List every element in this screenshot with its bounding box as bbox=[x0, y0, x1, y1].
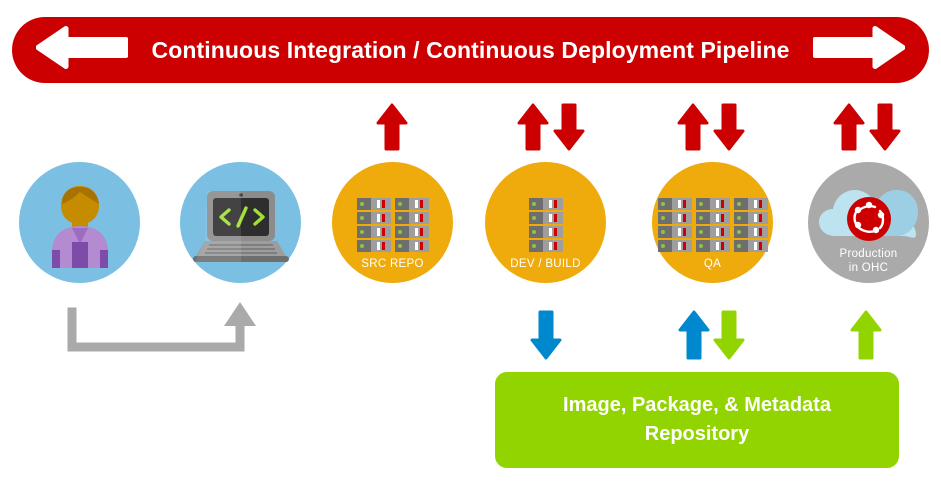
arrow-right-icon bbox=[813, 25, 905, 76]
node-production-label-line2: in OHC bbox=[808, 262, 929, 275]
cloud-openshift-icon bbox=[808, 184, 929, 250]
arrow-down-qa bbox=[713, 103, 745, 156]
node-workstation[interactable] bbox=[180, 162, 301, 283]
node-production[interactable]: Production in OHC bbox=[808, 162, 929, 283]
server-rack-icon bbox=[652, 198, 773, 252]
node-qa[interactable]: QA bbox=[652, 162, 773, 283]
arrow-down-production bbox=[869, 103, 901, 156]
arrow-down-qa-to-repo bbox=[713, 310, 745, 365]
node-src-repo-label: SRC REPO bbox=[332, 258, 453, 271]
laptop-code-icon bbox=[180, 190, 301, 262]
node-qa-label: QA bbox=[652, 258, 773, 271]
arrow-down-dev-build bbox=[553, 103, 585, 156]
node-dev-build[interactable]: DEV / BUILD bbox=[485, 162, 606, 283]
arrow-up-src-repo bbox=[376, 103, 408, 156]
artifact-repository-label: Image, Package, & Metadata Repository bbox=[563, 391, 831, 449]
pipeline-banner: Continuous Integration / Continuous Depl… bbox=[12, 17, 929, 83]
artifact-repository-line1: Image, Package, & Metadata bbox=[563, 391, 831, 420]
person-icon bbox=[19, 184, 140, 268]
developer-feedback-connector bbox=[60, 300, 260, 365]
arrow-up-qa-from-repo bbox=[678, 310, 710, 365]
server-rack-icon bbox=[332, 198, 453, 252]
arrow-left-icon bbox=[36, 25, 128, 76]
arrow-up-dev-build bbox=[517, 103, 549, 156]
arrow-up-production bbox=[833, 103, 865, 156]
artifact-repository-line2: Repository bbox=[563, 420, 831, 449]
node-production-label-line1: Production bbox=[808, 248, 929, 261]
node-src-repo[interactable]: SRC REPO bbox=[332, 162, 453, 283]
arrow-up-qa bbox=[677, 103, 709, 156]
arrow-up-production-from-repo bbox=[850, 310, 882, 365]
artifact-repository-box[interactable]: Image, Package, & Metadata Repository bbox=[495, 372, 899, 468]
server-rack-icon bbox=[485, 198, 606, 252]
node-dev-build-label: DEV / BUILD bbox=[485, 258, 606, 271]
node-developer[interactable] bbox=[19, 162, 140, 283]
arrow-down-dev-build-to-repo bbox=[530, 310, 562, 365]
banner-title: Continuous Integration / Continuous Depl… bbox=[152, 37, 790, 64]
